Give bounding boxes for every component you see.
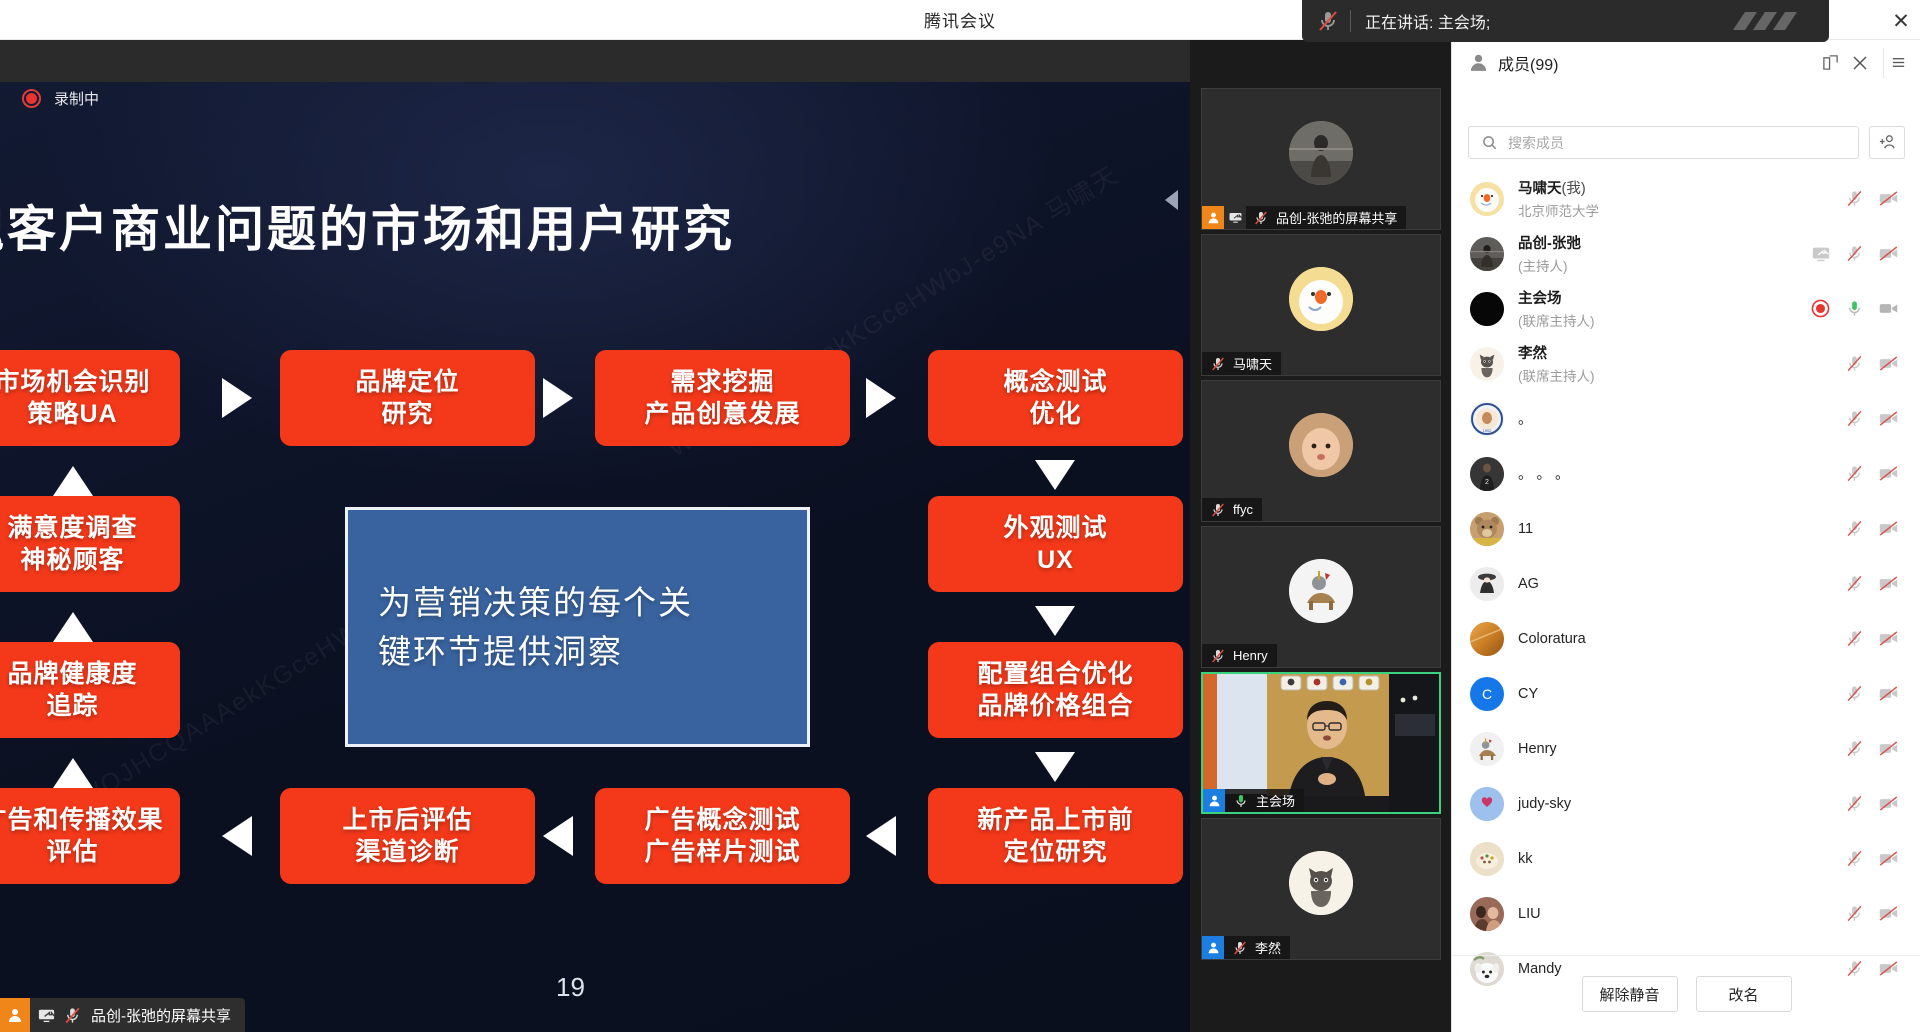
- tile-name: ffyc: [1233, 502, 1253, 517]
- mic-off-icon: [59, 998, 85, 1032]
- arrow-down-icon: [1035, 752, 1075, 782]
- member-row[interactable]: judy-sky: [1452, 776, 1920, 831]
- member-info: 。 。 。: [1518, 463, 1844, 484]
- member-row[interactable]: 2。 。 。: [1452, 446, 1920, 501]
- avatar: [1470, 567, 1504, 601]
- avatar: [1289, 121, 1353, 185]
- tile-name: 主会场: [1256, 791, 1295, 810]
- video-tile[interactable]: Henry: [1201, 526, 1441, 668]
- arrow-right-icon: [222, 378, 252, 418]
- flow-box-config-optimization: 配置组合优化 品牌价格组合: [928, 642, 1183, 738]
- member-row[interactable]: 主会场(联席主持人): [1452, 281, 1920, 336]
- member-status-icons: [1844, 848, 1899, 869]
- flow-box-line2: 研究: [381, 398, 433, 430]
- member-status-icons: [1844, 463, 1899, 484]
- rename-button[interactable]: 改名: [1696, 976, 1792, 1012]
- flow-box-center-message: 为营销决策的每个关 键环节提供洞察: [345, 507, 810, 747]
- camera-off-icon[interactable]: [1878, 628, 1899, 649]
- flow-box-appearance-test: 外观测试 UX: [928, 496, 1183, 592]
- tile-namebar: 主会场: [1203, 789, 1304, 812]
- avatar: C: [1470, 677, 1504, 711]
- flow-box-line1: 新产品上市前: [977, 804, 1133, 836]
- member-info: 。: [1518, 408, 1844, 429]
- flow-box-line1: 广告概念测试: [644, 804, 800, 836]
- mic-off-icon[interactable]: [1844, 738, 1865, 759]
- arrow-down-icon: [1035, 606, 1075, 636]
- screen-share-icon[interactable]: [1810, 243, 1831, 264]
- slide-title: 瑰客户商业问题的市场和用户研究: [0, 190, 735, 261]
- flow-box-line1: 满意度调查: [7, 512, 137, 544]
- share-owner-label: 品创-张弛的屏幕共享: [91, 1005, 231, 1026]
- collapse-left-arrow-icon[interactable]: [1165, 190, 1178, 210]
- avatar: [1470, 347, 1504, 381]
- members-search-row: [1468, 126, 1905, 159]
- tile-name: 品创-张弛的屏幕共享: [1276, 208, 1397, 227]
- mic-off-icon[interactable]: [1844, 573, 1865, 594]
- member-info: 主会场(联席主持人): [1518, 287, 1810, 330]
- avatar: [1470, 237, 1504, 271]
- mic-off-icon[interactable]: [1844, 188, 1865, 209]
- member-info: judy-sky: [1518, 796, 1844, 812]
- presentation-slide: WOJHCQAAAekKGceHWbJ-e9NA 马啸天 WOJHCQAAAek…: [0, 82, 1190, 1032]
- member-name: 品创-张弛: [1518, 232, 1810, 253]
- avatar: [1289, 851, 1353, 915]
- flow-box-line2: 定位研究: [1003, 836, 1107, 868]
- tile-namebar: 品创-张弛的屏幕共享: [1202, 206, 1406, 229]
- mic-off-icon: [1316, 9, 1340, 33]
- camera-off-icon[interactable]: [1878, 573, 1899, 594]
- camera-off-icon[interactable]: [1878, 738, 1899, 759]
- video-tile-active-speaker[interactable]: 主会场: [1201, 672, 1441, 814]
- hamburger-menu-icon[interactable]: [1883, 48, 1913, 78]
- slide-page-number: 19: [556, 972, 585, 1003]
- center-line2: 键环节提供洞察: [378, 627, 623, 677]
- flow-box-line1: 需求挖掘: [670, 366, 774, 398]
- tile-name: Henry: [1233, 648, 1268, 663]
- members-panel: 成员(99): [1451, 40, 1920, 1032]
- avatar: [1470, 622, 1504, 656]
- camera-off-icon[interactable]: [1878, 848, 1899, 869]
- person-icon: [1202, 936, 1224, 959]
- flow-box-line2: 策略UA: [27, 398, 117, 430]
- screen-share-icon: [1224, 206, 1246, 229]
- member-name: Henry: [1518, 741, 1844, 757]
- member-name: judy-sky: [1518, 796, 1844, 812]
- member-info: 11: [1518, 521, 1844, 537]
- member-status-icons: [1844, 628, 1899, 649]
- member-info: LIU: [1518, 906, 1844, 922]
- camera-off-icon[interactable]: [1878, 243, 1899, 264]
- mic-off-icon: [1207, 353, 1228, 374]
- toast-close-button[interactable]: ✕: [1888, 8, 1914, 34]
- member-name: 。 。 。: [1518, 463, 1844, 484]
- mic-off-icon[interactable]: [1844, 683, 1865, 704]
- arrow-down-icon: [1035, 460, 1075, 490]
- member-info: Henry: [1518, 741, 1844, 757]
- avatar: [1289, 559, 1353, 623]
- flow-box-demand-mining: 需求挖掘 产品创意发展: [595, 350, 850, 446]
- member-info: 品创-张弛(主持人): [1518, 232, 1810, 275]
- avatar: [1289, 413, 1353, 477]
- camera-off-icon[interactable]: [1878, 463, 1899, 484]
- mic-off-icon[interactable]: [1844, 243, 1865, 264]
- member-status-icons: [1844, 518, 1899, 539]
- member-status-icons: [1844, 738, 1899, 759]
- close-icon[interactable]: [1845, 48, 1875, 78]
- flow-box-brand-positioning: 品牌定位 研究: [280, 350, 535, 446]
- member-info: 马啸天(我)北京师范大学: [1518, 177, 1844, 220]
- member-info: 李然(联席主持人): [1518, 342, 1844, 385]
- avatar: [1470, 182, 1504, 216]
- camera-off-icon[interactable]: [1878, 353, 1899, 374]
- popout-window-icon[interactable]: [1815, 48, 1845, 78]
- video-tile[interactable]: 李然: [1201, 818, 1441, 960]
- member-name: 。: [1518, 408, 1844, 429]
- member-status-icons: [1844, 903, 1899, 924]
- shared-screen-stage: 录制中 WOJHCQAAAekKGceHWbJ-e9NA 马啸天 WOJHCQA…: [0, 40, 1190, 1032]
- avatar: [1470, 842, 1504, 876]
- member-name: 11: [1518, 521, 1844, 537]
- avatar: 1902: [1470, 402, 1504, 436]
- flow-box-line1: 品牌定位: [355, 366, 459, 398]
- tile-name: 马啸天: [1233, 354, 1272, 373]
- window-title: 腾讯会议: [924, 7, 996, 32]
- recording-indicator: 录制中: [22, 88, 99, 109]
- svg-text:2: 2: [1485, 479, 1489, 486]
- avatar: [1470, 512, 1504, 546]
- person-icon: [1468, 52, 1489, 73]
- camera-off-solid-icon[interactable]: [1878, 298, 1899, 319]
- member-row[interactable]: Henry: [1452, 721, 1920, 776]
- mic-off-icon[interactable]: [1844, 353, 1865, 374]
- mic-off-icon: [1229, 937, 1250, 958]
- screen-share-owner-bar: 品创-张弛的屏幕共享: [0, 998, 245, 1032]
- flow-box-line2: 产品创意发展: [644, 398, 800, 430]
- camera-off-icon[interactable]: [1878, 793, 1899, 814]
- search-box[interactable]: [1468, 126, 1859, 159]
- member-name: 主会场: [1518, 287, 1810, 308]
- flow-box-brand-health: 品牌健康度 追踪: [0, 642, 180, 738]
- member-info: Coloratura: [1518, 631, 1844, 647]
- add-person-icon[interactable]: [1869, 126, 1905, 159]
- member-name: CY: [1518, 686, 1844, 702]
- camera-off-icon[interactable]: [1878, 518, 1899, 539]
- member-name: LIU: [1518, 906, 1844, 922]
- member-row[interactable]: 1902。: [1452, 391, 1920, 446]
- flow-box-line1: 配置组合优化: [977, 658, 1133, 690]
- arrow-left-icon: [222, 816, 252, 856]
- camera-off-icon[interactable]: [1878, 188, 1899, 209]
- video-tile[interactable]: ffyc: [1201, 380, 1441, 522]
- member-status-icons: [1844, 353, 1899, 374]
- member-name: Coloratura: [1518, 631, 1844, 647]
- member-row[interactable]: 李然(联席主持人): [1452, 336, 1920, 391]
- flow-box-new-product-prelaunch: 新产品上市前 定位研究: [928, 788, 1183, 884]
- recording-label: 录制中: [54, 88, 99, 109]
- member-row[interactable]: kk: [1452, 831, 1920, 886]
- member-status-icons: [1844, 793, 1899, 814]
- mic-off-icon[interactable]: [1844, 518, 1865, 539]
- arrow-up-icon: [53, 758, 93, 788]
- members-list[interactable]: 马啸天(我)北京师范大学品创-张弛(主持人)主会场(联席主持人)李然(联席主持人…: [1452, 171, 1920, 995]
- member-row[interactable]: LIU: [1452, 886, 1920, 941]
- search-input[interactable]: [1508, 135, 1848, 151]
- arrow-left-icon: [866, 816, 896, 856]
- avatar: [1470, 292, 1504, 326]
- member-status-icons: [1844, 188, 1899, 209]
- member-info: AG: [1518, 576, 1844, 592]
- member-row[interactable]: 品创-张弛(主持人): [1452, 226, 1920, 281]
- member-role: (联席主持人): [1518, 365, 1844, 385]
- flow-box-concept-test: 概念测试 优化: [928, 350, 1183, 446]
- flow-box-line1: 市场机会识别: [0, 366, 151, 398]
- mic-off-icon[interactable]: [1844, 628, 1865, 649]
- member-self-tag: (我): [1562, 181, 1586, 197]
- flow-box-market-opportunity: 市场机会识别 策略UA: [0, 350, 180, 446]
- flow-box-satisfaction-survey: 满意度调查 神秘顾客: [0, 496, 180, 592]
- flow-box-ad-effect-eval: 广告和传播效果 评估: [0, 788, 180, 884]
- person-icon: [1202, 206, 1224, 229]
- flow-box-post-launch-eval: 上市后评估 渠道诊断: [280, 788, 535, 884]
- member-row[interactable]: 11: [1452, 501, 1920, 556]
- video-tile[interactable]: 品创-张弛的屏幕共享: [1201, 88, 1441, 230]
- svg-text:1902: 1902: [1483, 428, 1493, 433]
- member-status-icons: [1810, 243, 1899, 264]
- member-name: 马啸天(我): [1518, 177, 1844, 198]
- camera-off-icon[interactable]: [1878, 903, 1899, 924]
- stage-topbar: [0, 40, 1190, 82]
- speaking-notification-toast: 正在讲话: 主会场;: [1302, 0, 1829, 42]
- arrow-right-icon: [866, 378, 896, 418]
- toast-text: 正在讲话: 主会场;: [1365, 9, 1490, 33]
- mic-off-icon: [1207, 499, 1228, 520]
- flow-box-line2: 优化: [1029, 398, 1081, 430]
- member-name: 李然: [1518, 342, 1844, 363]
- unmute-button[interactable]: 解除静音: [1582, 976, 1678, 1012]
- member-status-icons: [1844, 683, 1899, 704]
- mic-off-icon[interactable]: [1844, 848, 1865, 869]
- member-row[interactable]: Coloratura: [1452, 611, 1920, 666]
- camera-off-icon[interactable]: [1878, 408, 1899, 429]
- mic-off-icon: [1207, 645, 1228, 666]
- members-panel-footer: 解除静音 改名: [1452, 955, 1920, 1032]
- arrow-up-icon: [53, 466, 93, 496]
- tile-namebar: 马啸天: [1202, 352, 1281, 375]
- camera-off-icon[interactable]: [1878, 683, 1899, 704]
- video-filmstrip[interactable]: 品创-张弛的屏幕共享 马啸天: [1190, 40, 1451, 1032]
- person-icon: [1203, 789, 1225, 812]
- mic-on-icon: [1230, 790, 1251, 811]
- tencent-meeting-logo-icon: [1725, 8, 1811, 34]
- mic-off-icon[interactable]: [1844, 463, 1865, 484]
- member-status-icons: [1810, 298, 1899, 319]
- person-icon: [0, 998, 30, 1032]
- members-title: 成员(99): [1498, 51, 1558, 75]
- record-icon: [1810, 298, 1831, 319]
- toast-divider: [1350, 10, 1351, 32]
- avatar: [1289, 267, 1353, 331]
- arrow-right-icon: [543, 378, 573, 418]
- arrow-left-icon: [543, 816, 573, 856]
- flow-box-line2: 品牌价格组合: [977, 690, 1133, 722]
- flow-box-line1: 概念测试: [1003, 366, 1107, 398]
- mic-off-icon[interactable]: [1844, 903, 1865, 924]
- member-row[interactable]: AG: [1452, 556, 1920, 611]
- flow-box-line1: 品牌健康度: [7, 658, 137, 690]
- video-tile[interactable]: 马啸天: [1201, 234, 1441, 376]
- flow-box-ad-concept-test: 广告概念测试 广告样片测试: [595, 788, 850, 884]
- record-dot-icon: [22, 89, 41, 108]
- flow-box-line2: 评估: [46, 836, 98, 868]
- search-icon: [1479, 132, 1500, 153]
- member-role: (主持人): [1518, 255, 1810, 275]
- member-status-icons: [1844, 408, 1899, 429]
- tile-namebar: Henry: [1202, 644, 1277, 667]
- mic-on-icon[interactable]: [1844, 298, 1865, 319]
- members-panel-header: 成员(99): [1452, 40, 1920, 85]
- arrow-up-icon: [53, 612, 93, 642]
- flow-box-line1: 外观测试: [1003, 512, 1107, 544]
- member-name: kk: [1518, 851, 1844, 867]
- screen-share-icon: [33, 998, 59, 1032]
- tile-namebar: ffyc: [1202, 498, 1262, 521]
- flow-box-line2: 追踪: [46, 690, 98, 722]
- flow-box-line2: UX: [1037, 544, 1074, 576]
- mic-off-icon[interactable]: [1844, 793, 1865, 814]
- center-line1: 为营销决策的每个关: [378, 578, 693, 628]
- member-status-icons: [1844, 573, 1899, 594]
- flow-box-line1: 上市后评估: [342, 804, 472, 836]
- member-role: 北京师范大学: [1518, 200, 1844, 220]
- tile-namebar: 李然: [1202, 936, 1290, 959]
- member-row[interactable]: CCY: [1452, 666, 1920, 721]
- member-info: CY: [1518, 686, 1844, 702]
- member-info: kk: [1518, 851, 1844, 867]
- flow-box-line2: 神秘顾客: [20, 544, 124, 576]
- avatar: [1470, 897, 1504, 931]
- tile-name: 李然: [1255, 938, 1281, 957]
- avatar: [1470, 787, 1504, 821]
- member-row[interactable]: 马啸天(我)北京师范大学: [1452, 171, 1920, 226]
- mic-off-icon: [1250, 207, 1271, 228]
- flow-box-line2: 广告样片测试: [644, 836, 800, 868]
- flow-box-line2: 渠道诊断: [355, 836, 459, 868]
- flow-box-line1: 广告和传播效果: [0, 804, 164, 836]
- avatar: 2: [1470, 457, 1504, 491]
- member-name: AG: [1518, 576, 1844, 592]
- mic-off-icon[interactable]: [1844, 408, 1865, 429]
- member-role: (联席主持人): [1518, 310, 1810, 330]
- avatar: [1470, 732, 1504, 766]
